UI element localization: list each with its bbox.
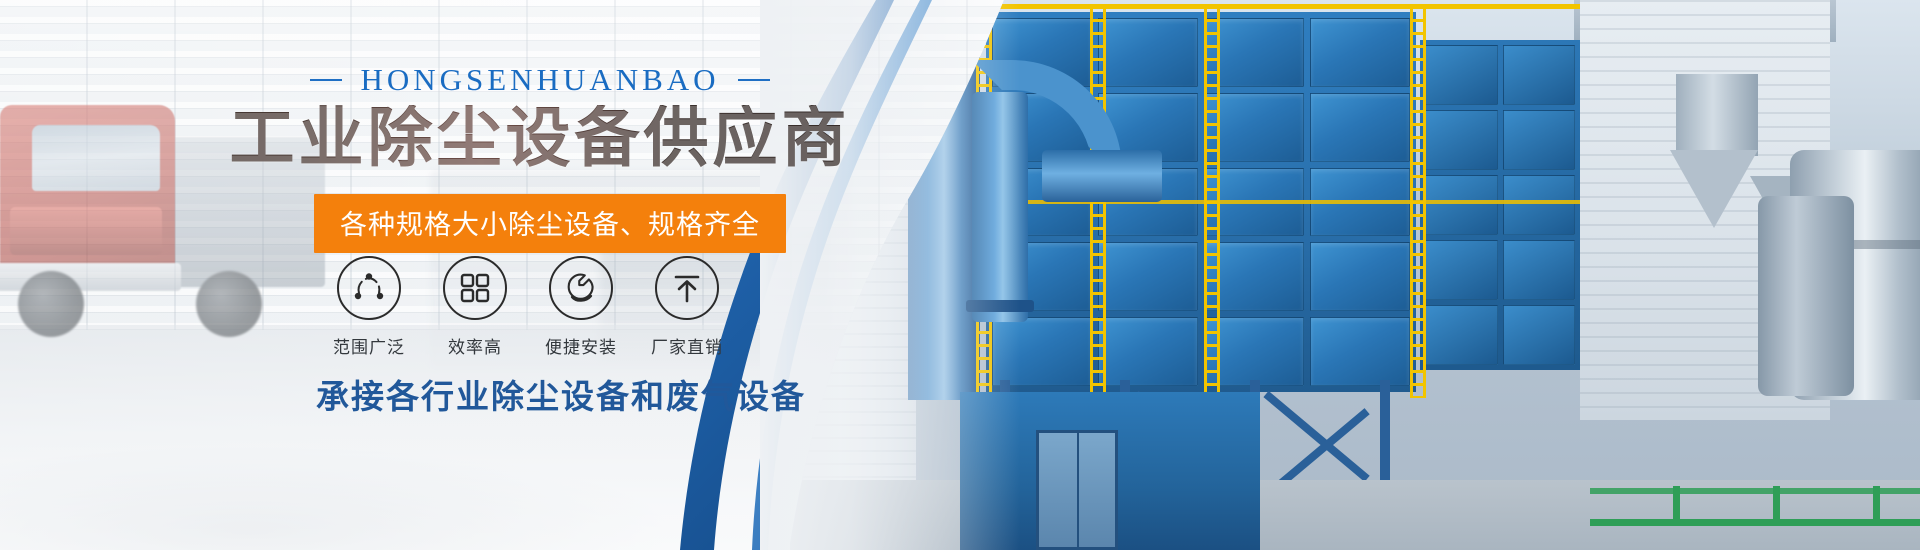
feature-ring-1 xyxy=(337,256,401,320)
baghouse-module xyxy=(1503,240,1576,300)
english-title: HONGSENHUANBAO xyxy=(360,62,719,98)
yellow-ladder xyxy=(1410,6,1426,398)
hopper-cone-1 xyxy=(1670,150,1758,228)
steel-tank-small xyxy=(1758,196,1854,396)
english-title-row: HONGSENHUANBAO xyxy=(0,62,1080,98)
feature-item-factory-direct[interactable]: 厂家直销 xyxy=(634,256,740,358)
baghouse-module xyxy=(1425,240,1498,300)
green-handrail-upper xyxy=(1590,488,1920,494)
orange-subtitle-bar: 各种规格大小除尘设备、规格齐全 xyxy=(314,194,786,253)
feature-label-efficiency: 效率高 xyxy=(422,333,528,358)
feature-ring-3 xyxy=(549,256,613,320)
cyclone-body xyxy=(1676,74,1758,156)
baghouse-module xyxy=(1425,305,1498,365)
feature-label-factory-direct: 厂家直销 xyxy=(634,333,740,358)
baghouse-module xyxy=(1503,305,1576,365)
network-nodes-icon xyxy=(352,271,386,305)
green-rail-post xyxy=(1673,486,1680,526)
baghouse-module xyxy=(1503,110,1576,170)
orange-subtitle-text: 各种规格大小除尘设备、规格齐全 xyxy=(340,210,760,241)
dash-right-icon xyxy=(738,79,770,81)
feature-item-efficiency[interactable]: 效率高 xyxy=(422,256,528,358)
feature-item-scope[interactable]: 范围广泛 xyxy=(316,256,422,358)
green-handrail xyxy=(1590,519,1920,526)
green-rail-post xyxy=(1873,486,1880,526)
yellow-ladder xyxy=(1204,6,1220,398)
wrench-tool-icon xyxy=(564,271,598,305)
baghouse-module xyxy=(1310,242,1410,311)
feature-ring-2 xyxy=(443,256,507,320)
baghouse-module xyxy=(1098,18,1198,87)
hero-banner: HONGSENHUANBAO 工业除尘设备供应商 各种规格大小除尘设备、规格齐全… xyxy=(0,0,1920,550)
baghouse-filter-secondary xyxy=(1420,40,1580,370)
main-headline: 工业除尘设备供应商 xyxy=(0,105,1080,173)
dash-left-icon xyxy=(310,79,342,81)
baghouse-module xyxy=(1425,110,1498,170)
hero-text-content: HONGSENHUANBAO 工业除尘设备供应商 各种规格大小除尘设备、规格齐全… xyxy=(0,0,1100,550)
support-brace xyxy=(1263,391,1369,482)
green-rail-post xyxy=(1773,486,1780,526)
feature-label-scope: 范围广泛 xyxy=(316,333,422,358)
up-arrow-bar-icon xyxy=(671,272,703,304)
baghouse-module xyxy=(1425,175,1498,235)
feature-icons-row: 范围广泛 效率高 xyxy=(316,256,740,358)
baghouse-module xyxy=(1310,18,1410,87)
baghouse-module xyxy=(1098,242,1198,311)
baghouse-module xyxy=(1310,317,1410,386)
baghouse2-module-grid xyxy=(1425,45,1575,365)
baghouse-module xyxy=(1425,45,1498,105)
baghouse-module xyxy=(1098,317,1198,386)
baghouse-module xyxy=(1503,175,1576,235)
feature-label-installation: 便捷安装 xyxy=(528,333,634,358)
feature-ring-4 xyxy=(655,256,719,320)
grid-squares-icon xyxy=(459,272,491,304)
feature-item-installation[interactable]: 便捷安装 xyxy=(528,256,634,358)
bottom-tagline: 承接各行业除尘设备和废气设备 xyxy=(316,370,806,418)
baghouse-module xyxy=(1503,45,1576,105)
baghouse-module xyxy=(1310,93,1410,162)
